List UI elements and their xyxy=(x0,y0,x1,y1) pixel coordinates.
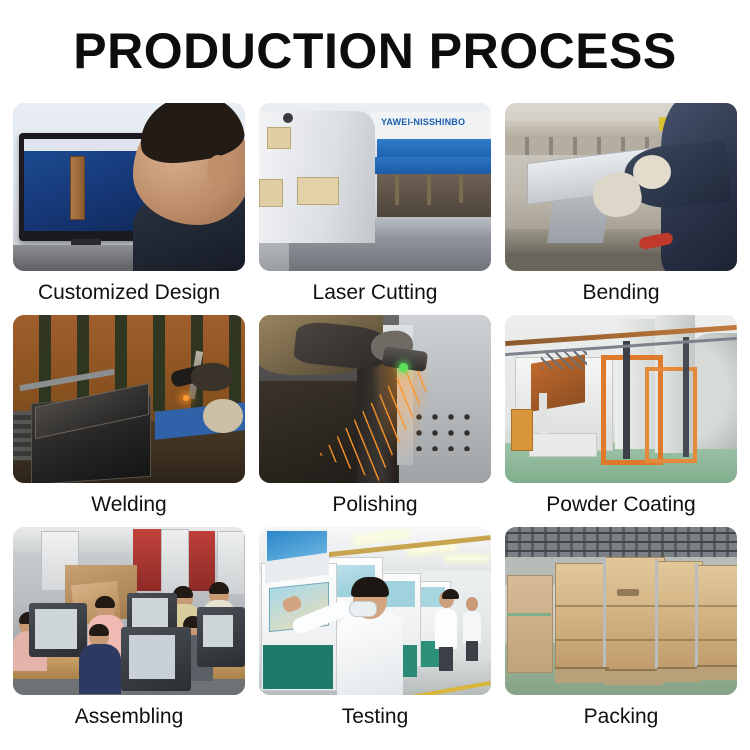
process-card-polishing[interactable]: Polishing xyxy=(259,315,491,527)
photo-laser-cutting: YAWEI-NISSHINBO xyxy=(259,103,491,271)
caption-customized-design: Customized Design xyxy=(13,271,245,315)
caption-powder-coating: Powder Coating xyxy=(505,483,737,527)
photo-bending xyxy=(505,103,737,271)
photo-polishing xyxy=(259,315,491,483)
page-title: PRODUCTION PROCESS xyxy=(0,22,750,80)
caption-assembling: Assembling xyxy=(13,695,245,739)
caption-testing: Testing xyxy=(259,695,491,739)
photo-packing xyxy=(505,527,737,695)
process-card-powder-coating[interactable]: Powder Coating xyxy=(505,315,737,527)
photo-testing xyxy=(259,527,491,695)
process-card-packing[interactable]: Packing xyxy=(505,527,737,739)
production-process-page: PRODUCTION PROCESS Customized Design xyxy=(0,0,750,750)
photo-welding xyxy=(13,315,245,483)
process-card-welding[interactable]: Welding xyxy=(13,315,245,527)
photo-powder-coating xyxy=(505,315,737,483)
caption-packing: Packing xyxy=(505,695,737,739)
caption-bending: Bending xyxy=(505,271,737,315)
process-card-laser-cutting[interactable]: YAWEI-NISSHINBO Laser Cutting xyxy=(259,103,491,315)
process-card-assembling[interactable]: Assembling xyxy=(13,527,245,739)
photo-customized-design xyxy=(13,103,245,271)
caption-laser-cutting: Laser Cutting xyxy=(259,271,491,315)
process-card-customized-design[interactable]: Customized Design xyxy=(13,103,245,315)
photo-assembling xyxy=(13,527,245,695)
process-card-testing[interactable]: Testing xyxy=(259,527,491,739)
process-card-bending[interactable]: Bending xyxy=(505,103,737,315)
caption-welding: Welding xyxy=(13,483,245,527)
caption-polishing: Polishing xyxy=(259,483,491,527)
machine-brand-label: YAWEI-NISSHINBO xyxy=(381,117,485,127)
process-grid: Customized Design YAWEI-NISSHINBO xyxy=(13,103,737,739)
